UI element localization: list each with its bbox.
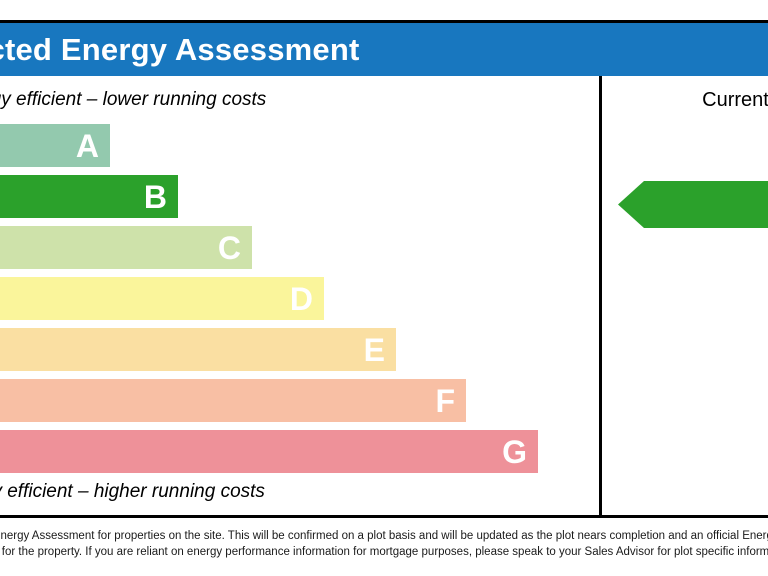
footnote: This is a Predicted Energy Assessment fo… — [0, 528, 768, 560]
current-rating-arrow-wrapper: B — [618, 181, 768, 228]
current-rating-panel: Current B — [602, 76, 768, 515]
current-rating-arrow: B — [618, 181, 768, 228]
current-column-heading: Current — [602, 89, 768, 112]
scale-caption-bottom: Not energy efficient – higher running co… — [0, 481, 265, 503]
energy-band-b: B — [0, 175, 178, 218]
certificate-body: Very energy efficient – lower running co… — [0, 76, 768, 515]
energy-band-g: G — [0, 430, 538, 473]
footnote-line-1: This is a Predicted Energy Assessment fo… — [0, 528, 768, 544]
energy-band-a: A — [0, 124, 110, 167]
band-letter-f: F — [435, 385, 466, 417]
epc-graphic: Predicted Energy Assessment Very energy … — [0, 0, 768, 576]
energy-scale-panel: Very energy efficient – lower running co… — [0, 76, 602, 515]
energy-band-f: F — [0, 379, 466, 422]
footnote-line-2: generated/displayed for the property. If… — [0, 544, 768, 560]
band-letter-g: G — [502, 436, 538, 468]
band-letter-a: A — [76, 130, 110, 162]
energy-band-bars: A B C D E F — [0, 124, 599, 481]
energy-band-e: E — [0, 328, 396, 371]
energy-band-c: C — [0, 226, 252, 269]
band-letter-c: C — [218, 232, 252, 264]
band-letter-e: E — [364, 334, 396, 366]
page-title: Predicted Energy Assessment — [0, 32, 360, 68]
band-letter-d: D — [290, 283, 324, 315]
certificate-header: Predicted Energy Assessment — [0, 23, 768, 76]
band-letter-b: B — [144, 181, 178, 213]
energy-band-d: D — [0, 277, 324, 320]
certificate-frame: Predicted Energy Assessment Very energy … — [0, 20, 768, 518]
scale-caption-top: Very energy efficient – lower running co… — [0, 89, 266, 111]
